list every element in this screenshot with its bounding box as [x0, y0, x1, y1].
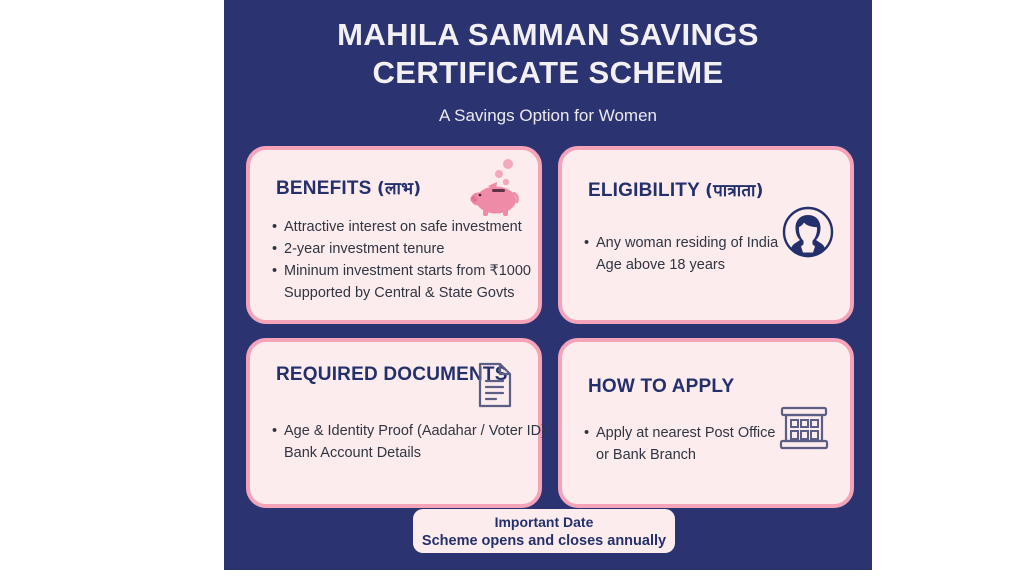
card-eligibility-title-hi: (पात्राता): [705, 181, 763, 201]
card-benefits-bullets: Attractive interest on safe investment 2…: [272, 216, 534, 304]
card-how-to-apply-bullets: Apply at nearest Post Office or Bank Bra…: [584, 422, 794, 466]
important-date-label: Important Date: [413, 513, 675, 532]
list-item: Bank Account Details: [272, 442, 542, 464]
card-benefits-title: BENEFITS (लाभ): [276, 176, 421, 200]
card-required-documents-bullets: Age & Identity Proof (Aadahar / Voter ID…: [272, 420, 542, 464]
card-eligibility-bullets: Any woman residing of India Age above 18…: [584, 232, 794, 276]
card-required-documents: REQUIRED DOCUMENTS Age & Identity Proof …: [246, 338, 542, 508]
card-eligibility: ELIGIBILITY (पात्राता) Any woman residin…: [558, 146, 854, 324]
poster-title-line-1: MAHILA SAMMAN SAVINGS: [224, 16, 872, 54]
list-item: Mininum investment starts from ₹1000: [272, 260, 534, 282]
list-item: 2-year investment tenure: [272, 238, 534, 260]
list-item: or Bank Branch: [584, 444, 794, 466]
screenshot-root: MAHILA SAMMAN SAVINGS CERTIFICATE SCHEME…: [0, 0, 1024, 576]
list-item: Any woman residing of India: [584, 232, 794, 254]
card-how-to-apply: HOW TO APPLY Apply at nearest Post O: [558, 338, 854, 508]
bottom-edge-sliver: [224, 570, 310, 576]
piggy-bank-icon: [470, 158, 524, 216]
poster-title-line-2: CERTIFICATE SCHEME: [224, 54, 872, 92]
poster-header: MAHILA SAMMAN SAVINGS CERTIFICATE SCHEME…: [224, 16, 872, 128]
card-benefits-title-en: BENEFITS: [276, 178, 372, 199]
list-item: Age above 18 years: [584, 254, 794, 276]
infographic-poster: MAHILA SAMMAN SAVINGS CERTIFICATE SCHEME…: [224, 0, 872, 570]
card-how-to-apply-title: HOW TO APPLY: [588, 376, 734, 398]
list-item: Supported by Central & State Govts: [272, 282, 534, 304]
card-benefits-title-hi: (लाभ): [377, 179, 421, 199]
list-item: Attractive interest on safe investment: [272, 216, 534, 238]
list-item: Apply at nearest Post Office: [584, 422, 794, 444]
document-icon: [476, 362, 514, 408]
card-how-to-apply-title-en: HOW TO APPLY: [588, 376, 734, 397]
poster-subtitle: A Savings Option for Women: [224, 104, 872, 128]
card-required-documents-title-en: REQUIRED DOCUMENTS: [276, 364, 508, 385]
list-item: Age & Identity Proof (Aadahar / Voter ID…: [272, 420, 542, 442]
card-eligibility-title: ELIGIBILITY (पात्राता): [588, 178, 764, 202]
card-eligibility-title-en: ELIGIBILITY: [588, 180, 700, 201]
card-required-documents-title: REQUIRED DOCUMENTS: [276, 364, 508, 386]
card-benefits: BENEFITS (लाभ): [246, 146, 542, 324]
important-date-value: Scheme opens and closes annually: [413, 532, 675, 551]
important-date-banner: Important Date Scheme opens and closes a…: [413, 509, 675, 553]
